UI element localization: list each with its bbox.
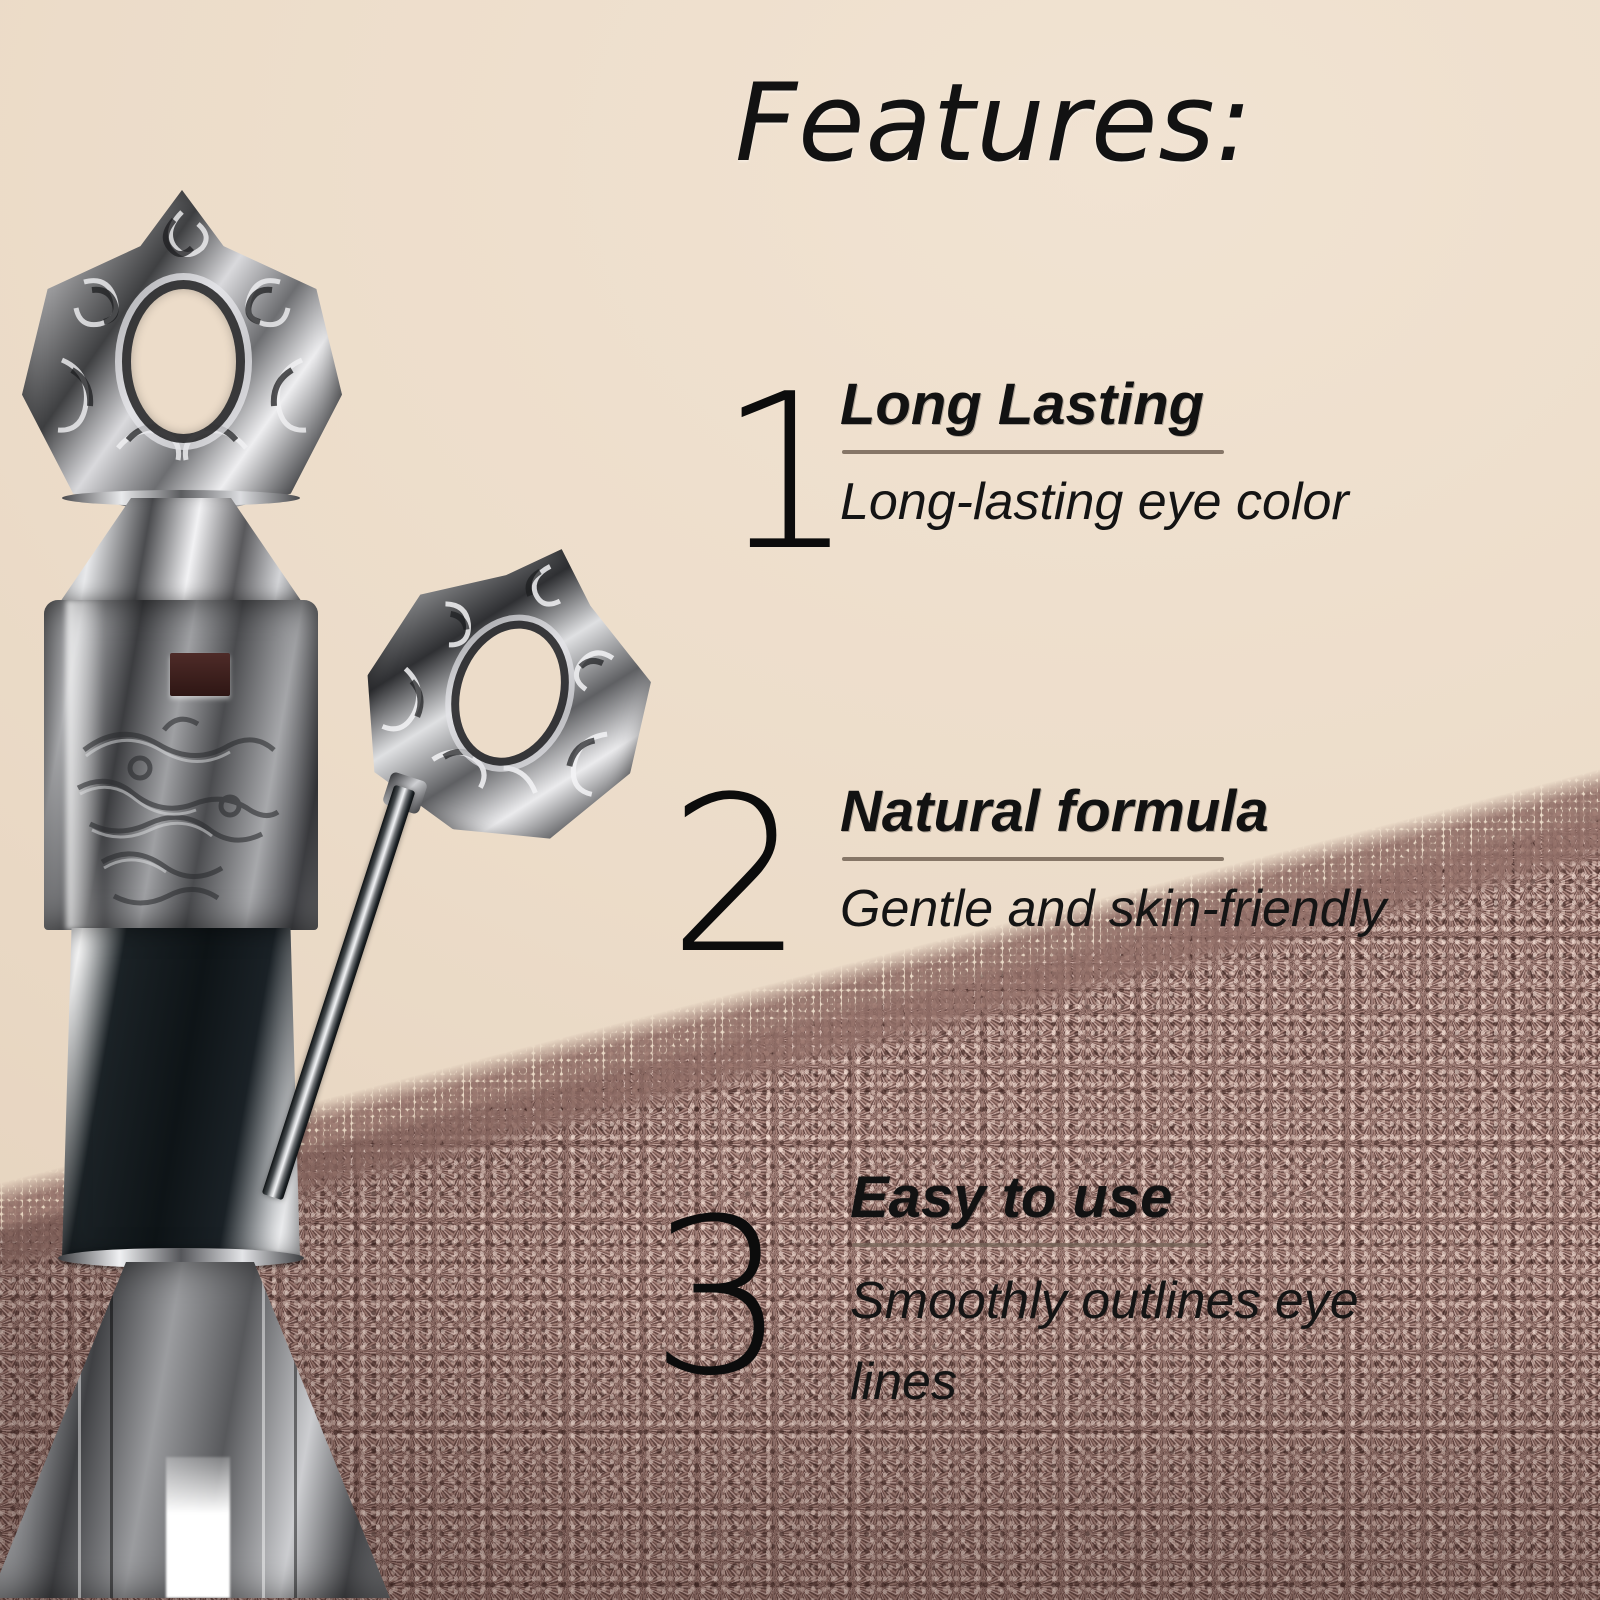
- feature-divider-2: [842, 857, 1224, 861]
- ornate-shield-cap-icon: [22, 190, 342, 520]
- product-feature-graphic: Features: 1 Long Lasting Long-lasting ey…: [0, 0, 1600, 1600]
- feature-heading-3: Easy to use: [850, 1168, 1600, 1227]
- feature-text-block-2: Natural formula Gentle and skin-friendly: [840, 782, 1600, 944]
- product-window: [170, 653, 230, 696]
- feature-description-3-line2: lines: [850, 1342, 1600, 1423]
- dragon-relief-pattern-icon: [44, 600, 318, 930]
- feature-divider-3: [852, 1243, 1207, 1247]
- feature-heading-2: Natural formula: [840, 782, 1600, 841]
- feature-number-1: 1: [718, 365, 855, 580]
- feature-number-2: 2: [668, 768, 805, 983]
- feature-description-1: Long-lasting eye color: [840, 468, 1600, 537]
- page-title: Features:: [735, 70, 1253, 178]
- feature-text-block-1: Long Lasting Long-lasting eye color: [840, 375, 1600, 537]
- applicator-wand-icon: [330, 540, 690, 1000]
- bottle-upper-body-embossed: [44, 600, 318, 930]
- feature-heading-1: Long Lasting: [840, 375, 1600, 434]
- feature-number-3: 3: [650, 1190, 787, 1405]
- cap-oval-opening: [131, 289, 237, 434]
- feature-divider-1: [842, 450, 1224, 454]
- base-specular-highlight: [166, 1457, 230, 1598]
- feature-description-3-line1: Smoothly outlines eye: [850, 1261, 1600, 1342]
- bottle-flared-base: [0, 1262, 390, 1598]
- feature-text-block-3: Easy to use Smoothly outlines eye lines: [850, 1168, 1600, 1422]
- bottle-lower-body-dark: [62, 928, 300, 1258]
- feature-description-2: Gentle and skin-friendly: [840, 875, 1600, 944]
